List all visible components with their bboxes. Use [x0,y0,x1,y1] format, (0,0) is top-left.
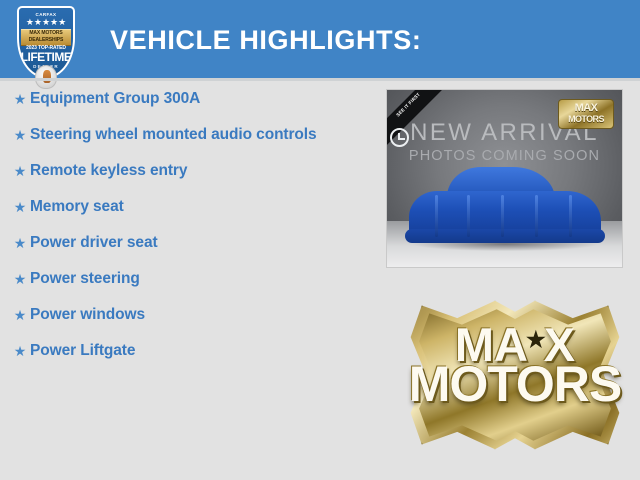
star-bullet-icon: ★ [10,232,30,254]
page-header: CARFAX ★★★★★ MAX MOTORS DEALERSHIPS 2023… [0,0,640,78]
car-drape-fold [435,195,438,237]
watermark-line2: MOTORS [568,114,604,125]
badge-lifetime-text: LIFETIME [19,51,73,64]
star-bullet-icon: ★ [10,124,30,146]
list-item: ★ Remote keyless entry [0,160,375,182]
star-bullet-icon: ★ [10,340,30,362]
list-item: ★ Steering wheel mounted audio controls [0,124,375,146]
max-motors-watermark-logo: MAX MOTORS [558,99,614,129]
badge-gold-ribbon: MAX MOTORS DEALERSHIPS [21,29,71,46]
header-divider [0,78,640,81]
badge-ribbon-line1: MAX MOTORS [21,30,71,37]
covered-car-illustration [405,163,605,239]
badge-ribbon-line2: DEALERSHIPS [21,37,71,44]
vehicle-photo-placeholder[interactable]: NEW ARRIVAL PHOTOS COMING SOON SEE IT FI… [387,90,622,267]
star-bullet-icon: ★ [10,196,30,218]
car-drape-fold [535,195,538,237]
badge-stars-icon: ★★★★★ [19,18,73,27]
vehicle-highlights-list: ★ Equipment Group 300A ★ Steering wheel … [0,88,375,376]
list-item: ★ Power windows [0,304,375,326]
list-item: ★ Power steering [0,268,375,290]
star-bullet-icon: ★ [10,304,30,326]
car-drape-fold [569,195,572,237]
star-bullet-icon: ★ [10,88,30,110]
max-motors-logo: MA★X MOTORS [404,296,626,454]
list-item-label: Power Liftgate [30,340,367,361]
list-item-label: Memory seat [30,196,367,217]
list-item-label: Power steering [30,268,367,289]
list-item-label: Equipment Group 300A [30,88,367,109]
list-item: ★ Equipment Group 300A [0,88,375,110]
list-item: ★ Power driver seat [0,232,375,254]
badge-seal-icon [35,65,57,89]
car-drape-fold [501,195,504,237]
photo-subline: PHOTOS COMING SOON [387,148,622,165]
page-title: VEHICLE HIGHLIGHTS: [110,24,421,56]
list-item: ★ Memory seat [0,196,375,218]
star-bullet-icon: ★ [10,160,30,182]
list-item-label: Power driver seat [30,232,367,253]
list-item-label: Power windows [30,304,367,325]
car-drape-fold [467,195,470,237]
star-bullet-icon: ★ [10,268,30,290]
list-item-label: Remote keyless entry [30,160,367,181]
clock-icon [390,128,409,147]
list-item-label: Steering wheel mounted audio controls [30,124,367,145]
watermark-line1: MAX [575,103,598,114]
carfax-lifetime-dealer-badge: CARFAX ★★★★★ MAX MOTORS DEALERSHIPS 2023… [17,6,75,86]
logo-motors-text: MOTORS [404,358,626,410]
list-item: ★ Power Liftgate [0,340,375,362]
